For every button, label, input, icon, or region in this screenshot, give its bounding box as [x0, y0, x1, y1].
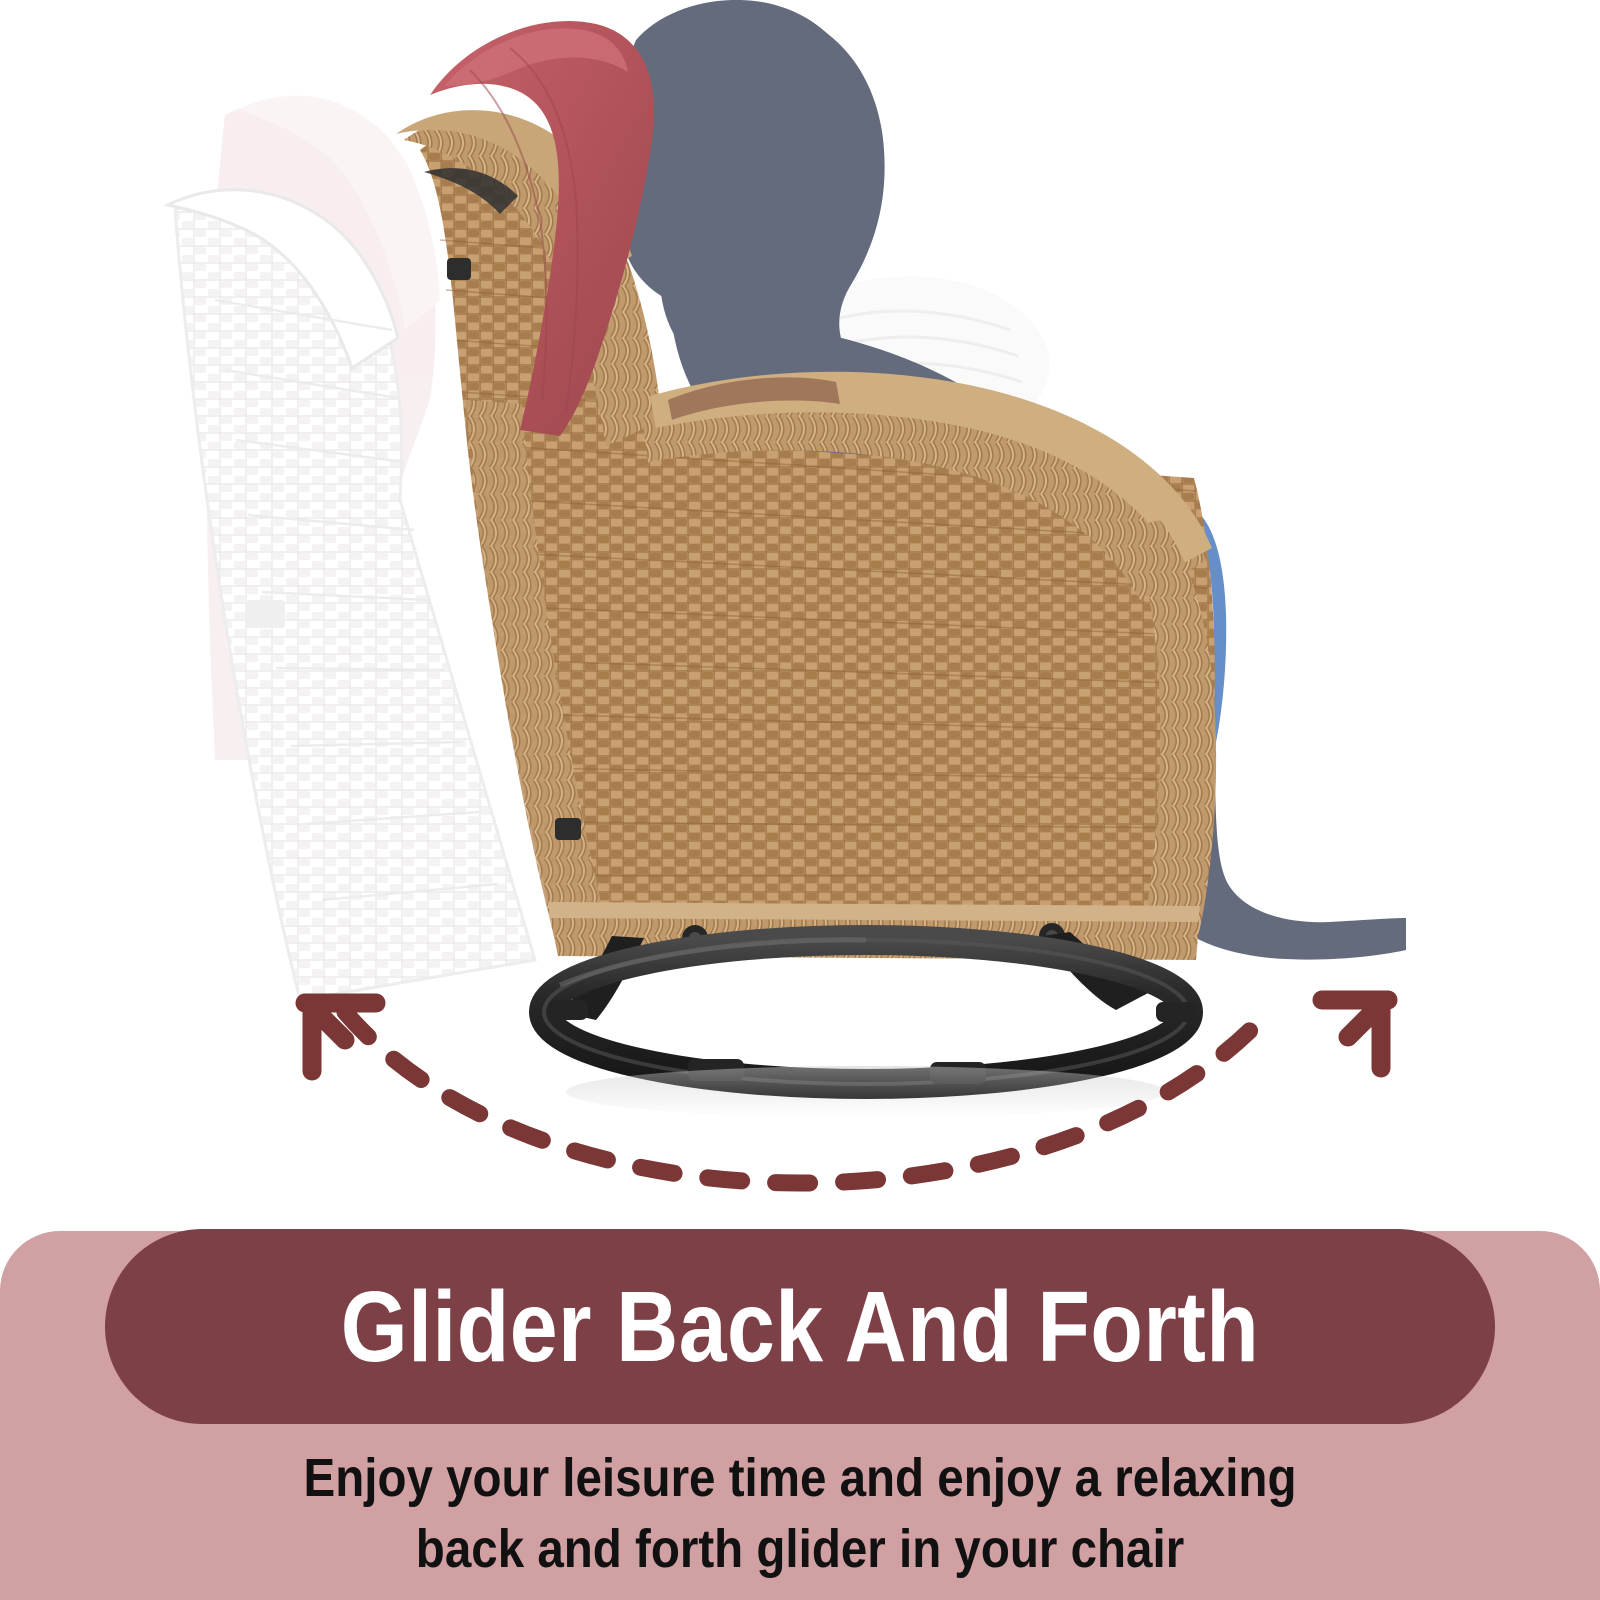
- subtext-block: Enjoy your leisure time and enjoy a rela…: [0, 1443, 1600, 1586]
- black-swivel-base-ring: [544, 932, 1198, 1084]
- subtext-line-2: back and forth glider in your chair: [96, 1514, 1504, 1585]
- headline-text: Glider Back And Forth: [341, 1277, 1260, 1377]
- product-photo: [0, 0, 1600, 1230]
- product-illustration: [0, 0, 1600, 1230]
- caption-banner: Glider Back And Forth Enjoy your leisure…: [0, 1231, 1600, 1600]
- product-feature-card: Glider Back And Forth Enjoy your leisure…: [0, 0, 1600, 1600]
- headline-pill: Glider Back And Forth: [105, 1229, 1495, 1424]
- subtext-line-1: Enjoy your leisure time and enjoy a rela…: [96, 1443, 1504, 1514]
